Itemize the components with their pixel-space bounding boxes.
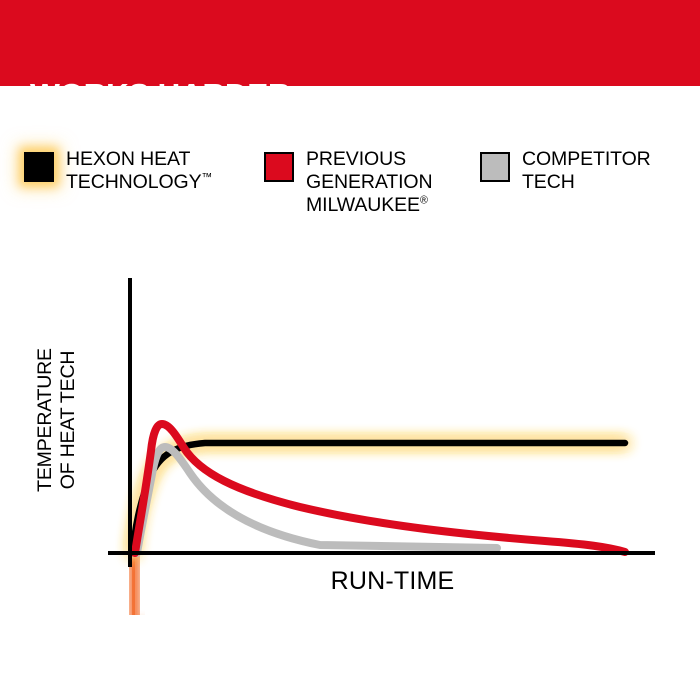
black-swatch: [24, 152, 54, 182]
legend-item-label: PREVIOUS GENERATION MILWAUKEE®: [306, 148, 432, 217]
x-axis-label: RUN-TIME: [130, 567, 655, 596]
chart-legend: HEXON HEAT TECHNOLOGY™ PREVIOUS GENERATI…: [0, 148, 700, 248]
line-chart: TEMPERATURE OF HEAT TECH RUN-TIME: [0, 255, 700, 615]
legend-label-text: COMPETITOR TECH: [522, 148, 651, 193]
legend-item-previous-generation-milwaukee: PREVIOUS GENERATION MILWAUKEE®: [264, 148, 474, 217]
gray-swatch: [480, 152, 510, 182]
red-swatch: [264, 152, 294, 182]
series-competitor-tech: [137, 447, 497, 553]
legend-label-text: HEXON HEAT TECHNOLOGY: [66, 148, 202, 193]
header-banner: WORKS HARDER IN FREEZING TEMPS: [0, 0, 700, 86]
registered-icon: ®: [420, 195, 428, 207]
legend-item-competitor-tech: COMPETITOR TECH: [480, 148, 695, 194]
legend-item-hexon-heat-technology: HEXON HEAT TECHNOLOGY™: [24, 148, 254, 194]
chart-plot-svg: [0, 255, 700, 615]
y-axis-label: TEMPERATURE OF HEAT TECH: [34, 300, 80, 540]
legend-item-label: HEXON HEAT TECHNOLOGY™: [66, 148, 212, 194]
legend-item-label: COMPETITOR TECH: [522, 148, 651, 194]
trademark-icon: ™: [202, 172, 213, 184]
page-title-line-1: WORKS HARDER: [30, 77, 341, 113]
legend-label-text: PREVIOUS GENERATION MILWAUKEE: [306, 148, 432, 216]
